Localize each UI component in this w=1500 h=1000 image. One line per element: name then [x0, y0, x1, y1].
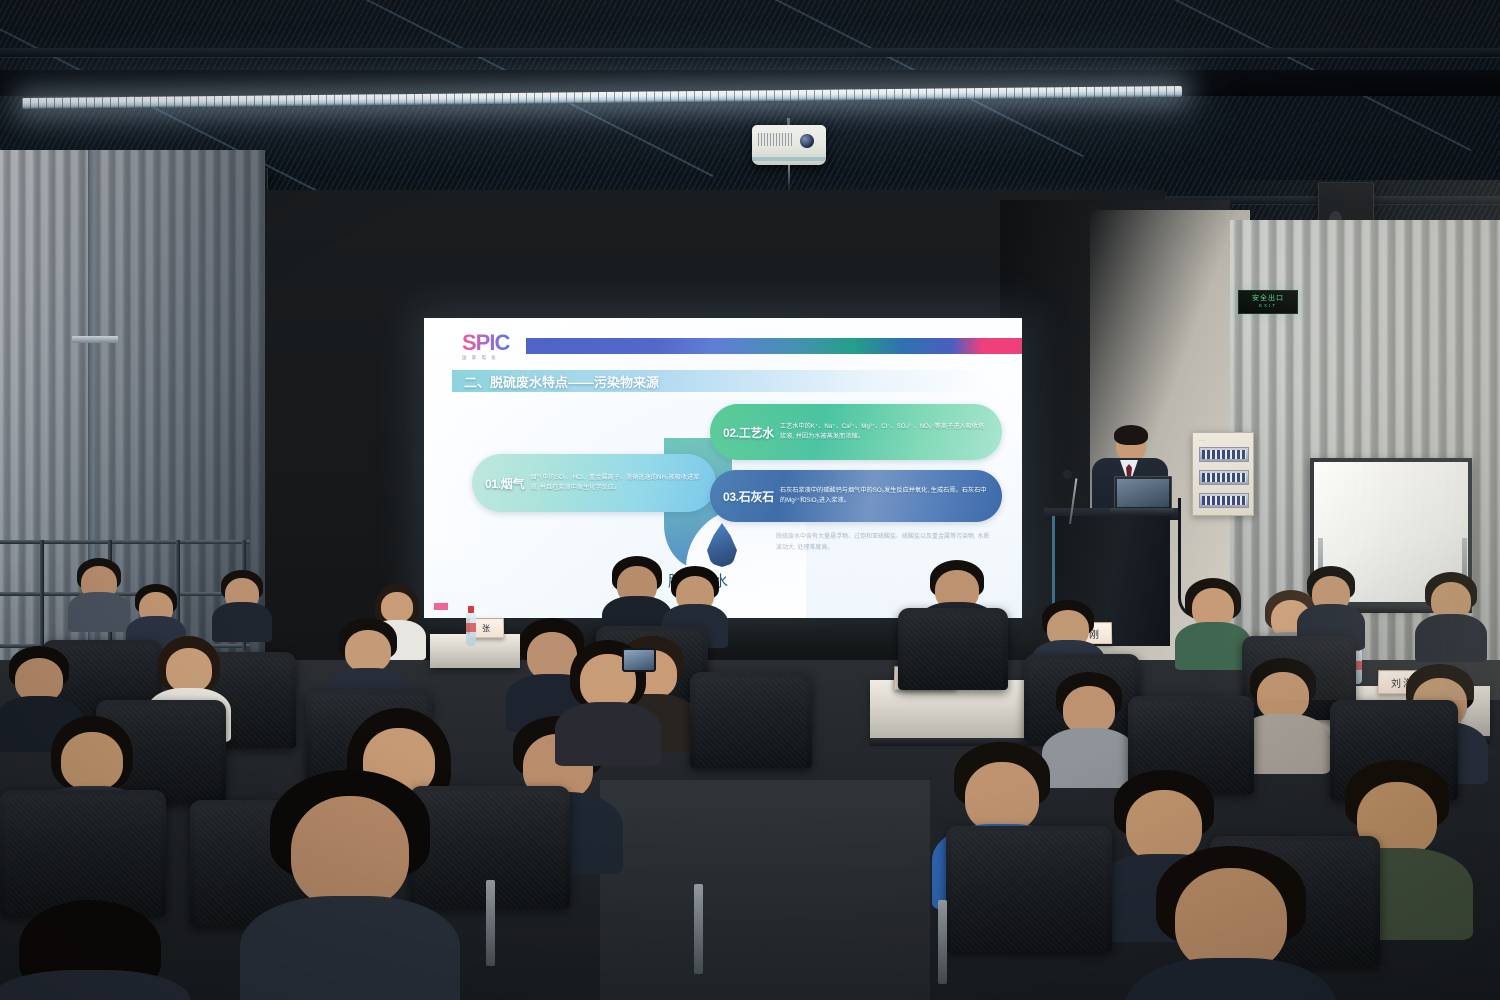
microphone-icon — [1063, 470, 1072, 479]
slide-bubble-01-text: 烟气中的SO₂、HCl、重金属离子、脱硝逃逸的NH₃被吸收进浆液, 并且在浆液中… — [530, 473, 716, 493]
slide-title: 二、脱硫废水特点——污染物来源 — [452, 372, 659, 391]
slide-bubble-02-number: 02.工艺水 — [710, 424, 780, 441]
audience-member-foreground — [0, 900, 180, 1000]
spic-logo-mark: SPIC — [462, 332, 516, 354]
exit-sign-label-cn: 安全出口 — [1252, 295, 1284, 303]
conference-room-scene: 安全出口 EXIT SPIC 国 家 电 投 二、脱硫废水特点——污染物来源 0… — [0, 0, 1500, 1000]
chair[interactable] — [0, 790, 166, 916]
smartphone[interactable] — [622, 648, 656, 672]
audience-member — [70, 558, 128, 628]
slide-bubble-02: 02.工艺水 工艺水中的K⁺、Na⁺、Ca²⁺、Mg²⁺、Cl⁻、SO₄²⁻、N… — [710, 404, 1002, 460]
exit-sign-label-en: EXIT — [1259, 303, 1277, 309]
audience-member-foreground — [250, 770, 450, 1000]
slide-body-text: 脱硫废水中含有大量悬浮物、过饱和亚硫酸盐、硫酸盐以及重金属等污染物, 水质波动大… — [776, 532, 994, 554]
slide-title-bar: 二、脱硫废水特点——污染物来源 — [452, 370, 986, 392]
exit-sign: 安全出口 EXIT — [1238, 290, 1298, 314]
spic-logo-subtitle: 国 家 电 投 — [462, 355, 516, 361]
water-bottle[interactable] — [466, 612, 476, 646]
slide-bubble-03-number: 03.石灰石 — [710, 488, 780, 505]
projector-band — [752, 157, 826, 161]
slide-bubble-02-text: 工艺水中的K⁺、Na⁺、Ca²⁺、Mg²⁺、Cl⁻、SO₄²⁻、NO₃⁻等离子进… — [780, 422, 1002, 442]
chair-leg — [486, 880, 495, 966]
projector-lens-icon — [800, 134, 814, 148]
ceiling-beam — [0, 48, 1500, 57]
presenter-hair — [1114, 425, 1148, 445]
audience-member — [214, 570, 270, 638]
laptop-keyboard — [1110, 508, 1174, 515]
nameplate-label: 张 — [482, 623, 492, 634]
slide-top-color-bar — [526, 338, 1022, 354]
chair[interactable] — [946, 826, 1112, 952]
laptop-screen — [1114, 476, 1172, 510]
slide-logo: SPIC 国 家 电 投 — [462, 332, 516, 362]
audience-member — [1178, 578, 1248, 664]
window-handle — [72, 336, 118, 343]
breaker-row — [1199, 447, 1249, 462]
slide-bubble-03-text: 石灰石浆液中的碳酸钙与烟气中的SO₂发生反应并氧化, 生成石膏。石灰石中的Mg²… — [780, 486, 1002, 506]
breaker-row — [1199, 470, 1249, 485]
slide-bubble-03: 03.石灰石 石灰石浆液中的碳酸钙与烟气中的SO₂发生反应并氧化, 生成石膏。石… — [710, 470, 1002, 522]
slide-corner-accent — [434, 603, 448, 610]
audience-member-foreground — [1136, 846, 1326, 1000]
chair[interactable] — [898, 608, 1008, 690]
chair-leg — [694, 884, 703, 974]
audience-member — [1300, 566, 1362, 646]
projector-vent — [758, 133, 792, 146]
center-aisle — [600, 780, 930, 1000]
electrical-panel: ＿＿ — [1192, 432, 1254, 516]
projector — [752, 125, 826, 165]
electrical-panel-label: ＿＿ — [1198, 437, 1206, 441]
chair[interactable] — [690, 672, 812, 768]
breaker-row — [1199, 493, 1249, 508]
chair-leg — [938, 900, 947, 984]
projector-pole — [788, 165, 790, 191]
slide-bubble-01: 01.烟气 烟气中的SO₂、HCl、重金属离子、脱硝逃逸的NH₃被吸收进浆液, … — [472, 454, 716, 512]
audience-member — [604, 556, 670, 636]
audience-member — [1418, 572, 1484, 656]
slide-bubble-01-number: 01.烟气 — [472, 475, 530, 492]
